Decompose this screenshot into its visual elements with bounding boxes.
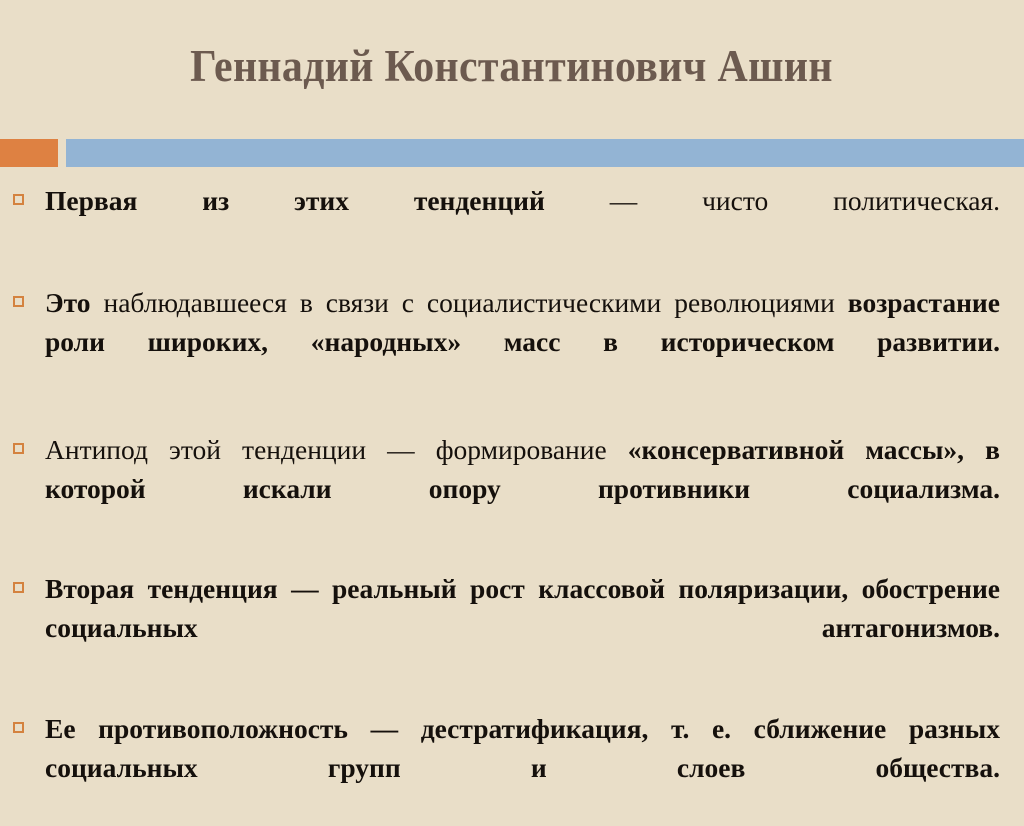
list-item-run: Вторая тенденция — реальный рост классов… xyxy=(45,573,1000,643)
list-item-run: наблюдавшееся в связи с социалистическим… xyxy=(91,287,848,318)
title-zone: Геннадий Константинович Ашин xyxy=(0,0,1024,133)
page-title: Геннадий Константинович Ашин xyxy=(191,43,834,90)
list-item: Это наблюдавшееся в связи с социалистиче… xyxy=(0,283,1024,400)
square-bullet-icon xyxy=(13,722,24,733)
list-item-run: Антипод этой тенденции — формирование xyxy=(45,434,628,465)
list-item: Вторая тенденция — реальный рост классов… xyxy=(0,569,1024,686)
list-item-run: Первая из этих тенденций xyxy=(45,185,545,216)
square-bullet-icon xyxy=(13,582,24,593)
list-item: Антипод этой тенденции — формирование «к… xyxy=(0,430,1024,547)
bullet-list: Первая из этих тенденций — чисто политич… xyxy=(0,181,1024,826)
list-item-run: Ее противоположность — дестратификация, … xyxy=(45,713,1000,783)
square-bullet-icon xyxy=(13,443,24,454)
slide: Геннадий Константинович Ашин Первая из э… xyxy=(0,0,1024,767)
square-bullet-icon xyxy=(13,296,24,307)
list-item: Первая из этих тенденций — чисто политич… xyxy=(0,181,1024,259)
divider xyxy=(0,139,1024,167)
list-item-run: Это xyxy=(45,287,91,318)
list-item: Ее противоположность — дестратификация, … xyxy=(0,709,1024,826)
list-item-run: — чисто политическая. xyxy=(545,185,1000,216)
square-bullet-icon xyxy=(13,194,24,205)
divider-accent-block xyxy=(0,139,58,167)
divider-main-bar xyxy=(66,139,1024,167)
